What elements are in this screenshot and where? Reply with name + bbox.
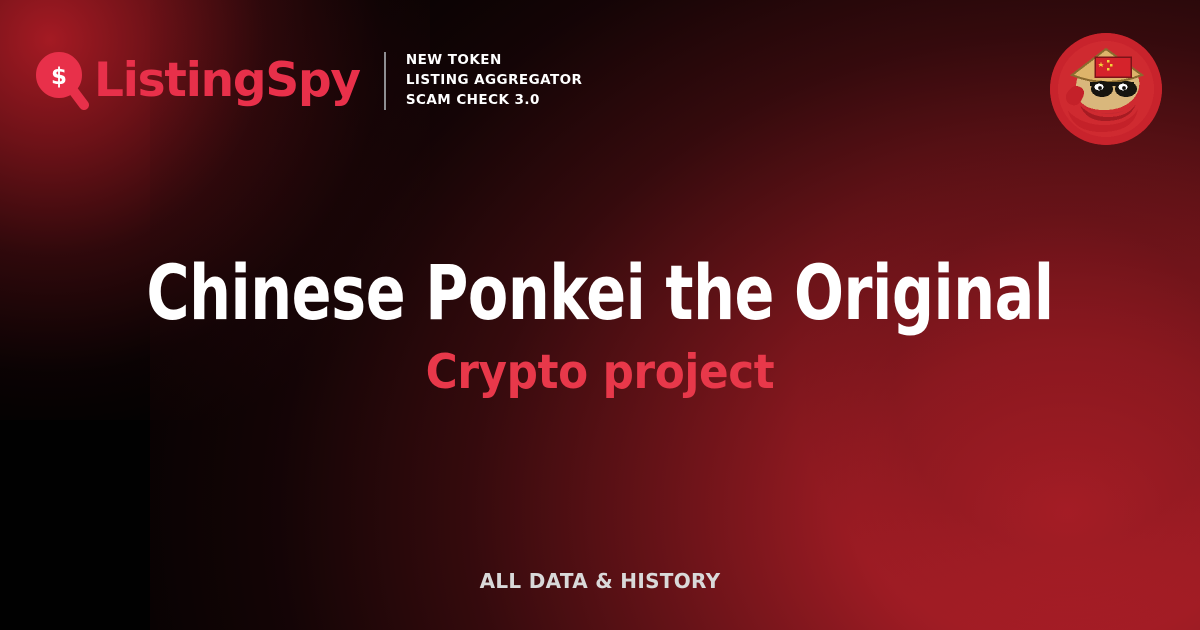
- brand-header: $ ListingSpy NEW TOKEN LISTING AGGREGATO…: [36, 52, 582, 110]
- magnifier-dollar-icon: $: [36, 52, 90, 110]
- tagline-line-3: SCAM CHECK 3.0: [406, 92, 583, 110]
- banner-root: $ ListingSpy NEW TOKEN LISTING AGGREGATO…: [0, 0, 1200, 630]
- svg-text:$: $: [51, 64, 67, 90]
- chinese-ponkei-avatar-icon: [1050, 33, 1162, 145]
- tagline-line-1: NEW TOKEN: [406, 52, 583, 70]
- tagline-line-2: LISTING AGGREGATOR: [406, 72, 583, 90]
- footer-caption: ALL DATA & HISTORY: [0, 571, 1200, 591]
- header-divider: [384, 52, 386, 110]
- brand-tagline: NEW TOKEN LISTING AGGREGATOR SCAM CHECK …: [406, 52, 583, 109]
- page-title: Chinese Ponkei the Original: [84, 255, 1116, 331]
- brand-name: ListingSpy: [94, 57, 360, 104]
- page-subtitle: Crypto project: [42, 349, 1158, 396]
